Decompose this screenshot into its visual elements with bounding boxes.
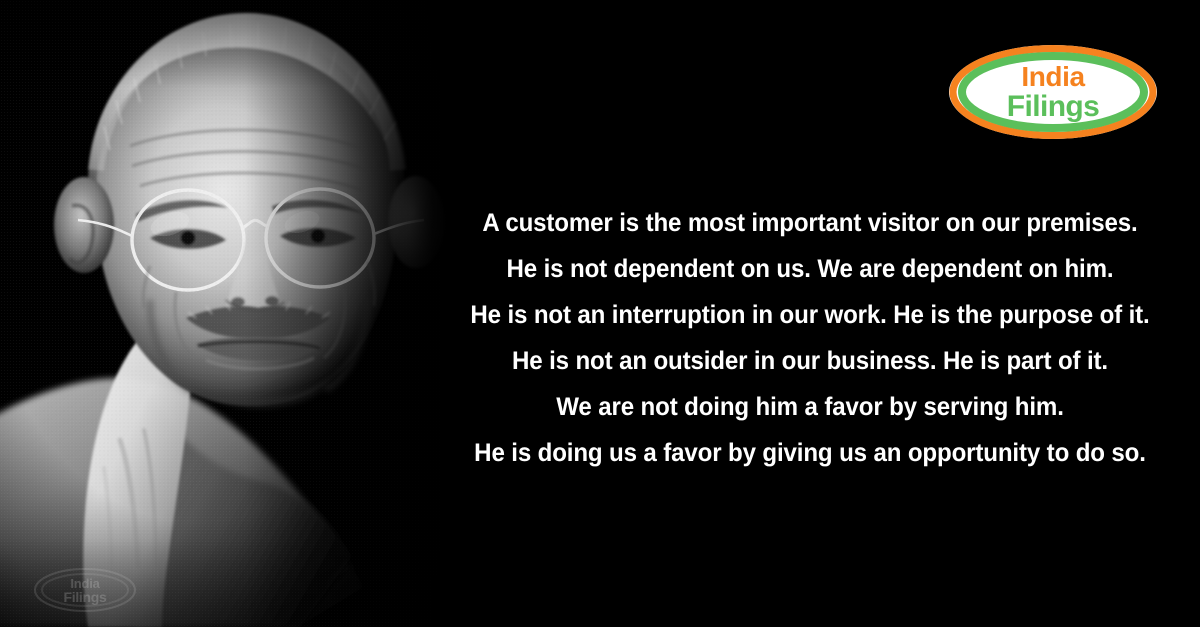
india-filings-logo[interactable]: India Filings bbox=[948, 44, 1158, 140]
quote-line-2: He is not dependent on us. We are depend… bbox=[451, 246, 1169, 292]
gandhi-portrait-photo bbox=[0, 0, 470, 627]
poster-canvas: India Filings A customer is the most imp… bbox=[0, 0, 1200, 627]
quote-line-6: He is doing us a favor by giving us an o… bbox=[451, 430, 1169, 476]
logo-ellipse-icon bbox=[948, 44, 1158, 140]
quote-line-5: We are not doing him a favor by serving … bbox=[451, 384, 1169, 430]
quote-line-1: A customer is the most important visitor… bbox=[451, 200, 1169, 246]
portrait-illustration bbox=[0, 0, 470, 627]
quote-line-4: He is not an outsider in our business. H… bbox=[451, 338, 1169, 384]
quote-text-block: A customer is the most important visitor… bbox=[430, 200, 1190, 476]
quote-line-3: He is not an interruption in our work. H… bbox=[451, 292, 1169, 338]
